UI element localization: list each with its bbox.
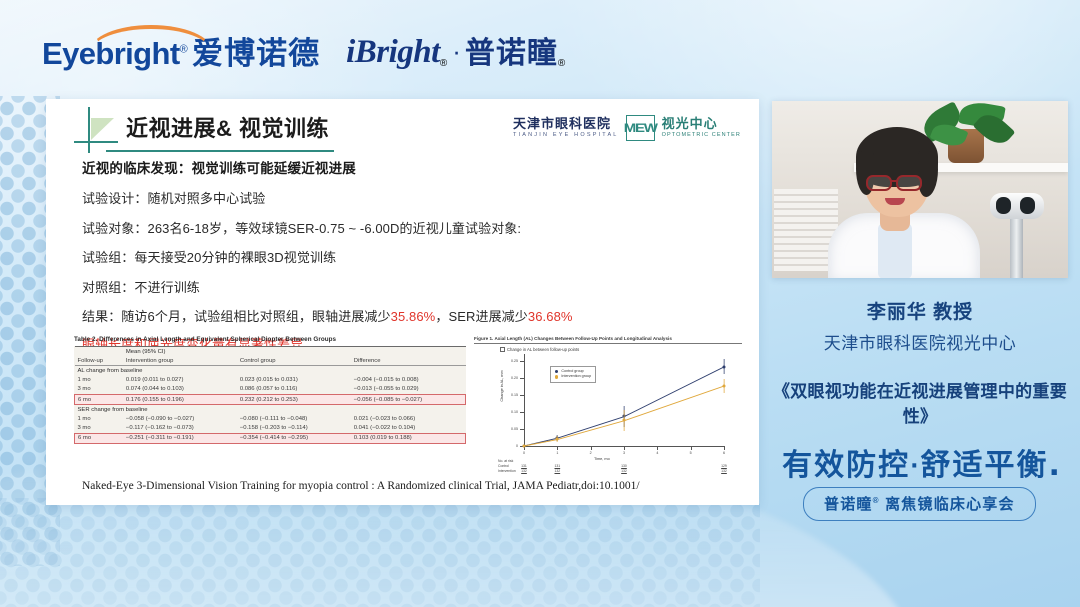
figure-panel-letter-icon: [500, 347, 505, 352]
chart-series-svg: [498, 354, 730, 458]
cell-intervention: −0.251 (−0.311 to −0.191): [123, 433, 237, 443]
event-name-badge: 普诺瞳® 离焦镜临床心享会: [803, 487, 1036, 521]
cell-intervention: 0.176 (0.155 to 0.196): [123, 394, 237, 404]
cell-control: −0.158 (−0.203 to −0.114): [237, 424, 351, 434]
ibright-cn-text: 普诺瞳: [465, 39, 558, 69]
title-underline: [106, 150, 334, 152]
table-row: 6 mo0.176 (0.155 to 0.196)0.232 (0.212 t…: [75, 394, 466, 404]
optometric-mark-letters: MEW: [624, 123, 657, 134]
title-crosshair-icon: [74, 107, 118, 153]
risk-cell: 131: [521, 464, 527, 468]
ibright-registered-icon: ®: [440, 58, 447, 69]
cell-difference: −0.056 (−0.085 to −0.027): [351, 394, 466, 404]
optometric-center-en: OPTOMETRIC CENTER: [662, 132, 741, 139]
slide-line-control: 对照组：不进行训练: [82, 277, 759, 296]
speaker-name: 李丽华 教授: [772, 297, 1068, 324]
slide-line-subjects: 试验对象：263名6-18岁，等效球镜SER-0.75 ~ -6.00D的近视儿…: [82, 218, 759, 237]
eyeglasses-bridge-icon: [891, 180, 897, 182]
risk-cell: 132: [554, 469, 560, 473]
cell-followup: 3 mo: [75, 424, 123, 434]
result-ser-percent: 36.68%: [528, 309, 573, 324]
slide-header: 近视进展& 视觉训练 天津市眼科医院 TIANJIN EYE HOSPITAL …: [46, 99, 759, 155]
eyebright-arc-icon: [90, 25, 212, 51]
risk-cell: 132: [721, 469, 727, 473]
chart-error-bar: [724, 359, 725, 373]
risk-cell: 129: [721, 464, 727, 468]
cell-intervention: 0.074 (0.044 to 0.103): [123, 385, 237, 395]
cell-control: 0.232 (0.212 to 0.253): [237, 394, 351, 404]
table-row: 3 mo0.074 (0.044 to 0.103)0.086 (0.057 t…: [75, 385, 466, 395]
optometric-center-block: 视光中心 OPTOMETRIC CENTER: [662, 117, 741, 139]
table-mean-header: Mean (95% CI): [123, 347, 237, 357]
table-section-label: SER change from baseline: [75, 405, 466, 415]
chart-error-bar: [724, 379, 725, 393]
cell-followup: 1 mo: [75, 414, 123, 423]
table-mean-header-row: Mean (95% CI): [75, 347, 466, 357]
event-name-text: 离焦镜临床心享会: [885, 496, 1015, 513]
slide-title: 近视进展& 视觉训练: [126, 111, 329, 143]
hospital-name-cn: 天津市眼科医院: [513, 117, 619, 132]
event-brand-text: 普诺瞳: [824, 496, 873, 513]
figure-subtitle: Change in AL between follow-up points: [507, 347, 579, 352]
chart-risk-table: No. at riskControl131131130129Interventi…: [498, 459, 742, 477]
ibright-cn-registered-icon: ®: [558, 58, 565, 69]
cell-control: 0.023 (0.015 to 0.031): [237, 376, 351, 385]
figure-caption: Figure 1. Axial Length (AL) Changes Betw…: [474, 336, 742, 341]
line-chart-plot: Change in AL, mm Time, mo Control groupI…: [498, 354, 730, 458]
speaker-organization: 天津市眼科医院视光中心: [772, 329, 1068, 354]
hospital-name-block: 天津市眼科医院 TIANJIN EYE HOSPITAL: [513, 117, 619, 139]
cell-intervention: −0.117 (−0.162 to −0.073): [123, 424, 237, 434]
results-table: Mean (95% CI)Follow-upIntervention group…: [74, 346, 466, 444]
jama-table-block: Table 2. Differences in Axial Length and…: [74, 336, 466, 444]
table-column-header-row: Follow-upIntervention groupControl group…: [75, 356, 466, 366]
optometric-center-mark-icon: MEW: [626, 115, 655, 141]
eyeglasses-right-lens-icon: [896, 175, 922, 191]
result-middle: ，SER进展减少: [435, 309, 528, 324]
cell-followup: 1 mo: [75, 376, 123, 385]
hospital-logo: 天津市眼科医院 TIANJIN EYE HOSPITAL MEW 视光中心 OP…: [513, 115, 741, 141]
table-row: 1 mo−0.058 (−0.090 to −0.027)−0.080 (−0.…: [75, 414, 466, 423]
figure-row: Table 2. Differences in Axial Length and…: [74, 336, 745, 477]
cell-difference: 0.041 (−0.022 to 0.104): [351, 424, 466, 434]
optometric-center-cn: 视光中心: [662, 117, 741, 132]
ibright-wordmark: iBright: [346, 36, 440, 69]
cell-difference: −0.013 (−0.055 to 0.029): [351, 385, 466, 395]
cell-difference: 0.021 (−0.023 to 0.066): [351, 414, 466, 423]
cell-control: −0.354 (−0.414 to −0.295): [237, 433, 351, 443]
table-caption: Table 2. Differences in Axial Length and…: [74, 336, 466, 343]
slide-body: 近视的临床发现：视觉训练可能延缓近视进展 试验设计：随机对照多中心试验 试验对象…: [46, 155, 759, 353]
risk-row-label: Control: [498, 464, 509, 468]
hexagon-pattern-bottom: [0, 498, 760, 607]
chart-error-bar: [624, 410, 625, 430]
risk-cell: 132: [521, 469, 527, 473]
slide-lead-text: 近视的临床发现：视觉训练可能延缓近视进展: [82, 157, 759, 177]
event-registered-icon: ®: [873, 496, 880, 505]
hospital-name-en: TIANJIN EYE HOSPITAL: [513, 132, 619, 139]
brand-logo-bar: Eyebright® 爱博诺德 iBright ® · 普诺瞳 ®: [42, 36, 565, 69]
figure-subtitle-row: Change in AL between follow-up points: [500, 347, 742, 352]
slogan-part-1: 有效防控: [782, 448, 910, 483]
risk-cell: 132: [621, 469, 627, 473]
table-col-header-0: Follow-up: [75, 356, 123, 366]
risk-table-title: No. at risk: [498, 459, 513, 463]
cell-followup: 3 mo: [75, 385, 123, 395]
talk-title: 《双眼视功能在近视进展管理中的重要性》: [762, 377, 1078, 427]
slogan-separator: ·: [910, 454, 920, 479]
table-row: 6 mo−0.251 (−0.311 to −0.191)−0.354 (−0.…: [75, 433, 466, 443]
slide-card: 近视进展& 视觉训练 天津市眼科医院 TIANJIN EYE HOSPITAL …: [46, 99, 759, 505]
table-col-header-1: Intervention group: [123, 356, 237, 366]
table-row: 3 mo−0.117 (−0.162 to −0.073)−0.158 (−0.…: [75, 424, 466, 434]
cell-intervention: −0.058 (−0.090 to −0.027): [123, 414, 237, 423]
chart-error-bar: [557, 436, 558, 441]
chart-data-point: [523, 444, 526, 447]
table-col-header-2: Control group: [237, 356, 351, 366]
cell-control: 0.086 (0.057 to 0.116): [237, 385, 351, 395]
eyebright-cn-text: 爱博诺德: [192, 38, 320, 69]
cell-difference: −0.004 (−0.015 to 0.008): [351, 376, 466, 385]
figure-rule: [474, 343, 742, 344]
cell-control: −0.080 (−0.111 to −0.048): [237, 414, 351, 423]
table-row: 1 mo0.019 (0.011 to 0.027)0.023 (0.015 t…: [75, 376, 466, 385]
ibright-separator: ·: [452, 36, 461, 67]
slogan-period: .: [1048, 448, 1061, 483]
table-col-header-3: Difference: [351, 356, 466, 366]
slide-line-result: 结果：随访6个月，试验组相比对照组，眼轴进展减少35.86%，SER进展减少36…: [82, 306, 759, 325]
eyeglasses-left-lens-icon: [866, 175, 892, 191]
event-slogan: 有效防控·舒适平衡.: [772, 440, 1072, 484]
slogan-part-2: 舒适平衡: [920, 448, 1048, 483]
cell-followup: 6 mo: [75, 433, 123, 443]
risk-cell: 131: [554, 464, 560, 468]
risk-row-label: Intervention: [498, 469, 516, 473]
result-al-percent: 35.86%: [391, 309, 436, 324]
table-section-label: AL change from baseline: [75, 366, 466, 376]
cell-followup: 6 mo: [75, 394, 123, 404]
cell-difference: 0.103 (0.019 to 0.188): [351, 433, 466, 443]
ibright-logo: iBright ® · 普诺瞳 ®: [346, 36, 565, 69]
result-prefix: 结果：随访6个月，试验组相比对照组，眼轴进展减少: [82, 309, 391, 324]
risk-cell: 130: [621, 464, 627, 468]
presentation-screen: Eyebright® 爱博诺德 iBright ® · 普诺瞳 ® 近视进展& …: [0, 0, 1080, 607]
slit-lamp-stem: [1010, 217, 1023, 278]
slide-citation: Naked-Eye 3-Dimensional Vision Training …: [82, 480, 640, 492]
table-section-header: SER change from baseline: [75, 405, 466, 415]
eyebright-logo: Eyebright® 爱博诺德: [42, 38, 320, 69]
figure-block: Figure 1. Axial Length (AL) Changes Betw…: [474, 336, 742, 477]
cell-intervention: 0.019 (0.011 to 0.027): [123, 376, 237, 385]
doctor-shirt: [878, 223, 912, 278]
speaker-photo: [772, 101, 1068, 278]
slide-line-intervention: 试验组：每天接受20分钟的裸眼3D视觉训练: [82, 247, 759, 266]
table-section-header: AL change from baseline: [75, 366, 466, 376]
slide-line-design: 试验设计：随机对照多中心试验: [82, 188, 759, 207]
